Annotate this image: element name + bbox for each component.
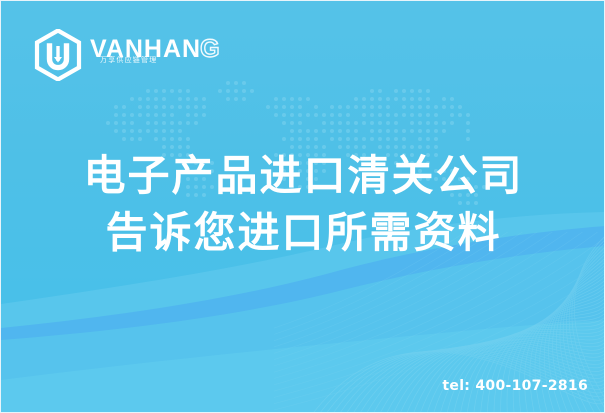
headline-line-1: 电子产品进口清关公司 xyxy=(1,147,605,204)
headline-block: 电子产品进口清关公司 告诉您进口所需资料 xyxy=(1,147,605,261)
headline-line-2: 告诉您进口所需资料 xyxy=(1,204,605,261)
brand-wordmark-outline-g: G xyxy=(200,35,220,63)
promo-banner: VANHAN G 万享供应链管理 电子产品进口清关公司 告诉您进口所需资料 te… xyxy=(0,0,605,413)
brand-logo[interactable]: VANHAN G 万享供应链管理 xyxy=(34,28,221,82)
contact-phone[interactable]: tel: 400-107-2816 xyxy=(442,378,588,394)
brand-subtitle: 万享供应链管理 xyxy=(100,56,157,65)
hexagon-u-logo-icon xyxy=(34,29,82,81)
